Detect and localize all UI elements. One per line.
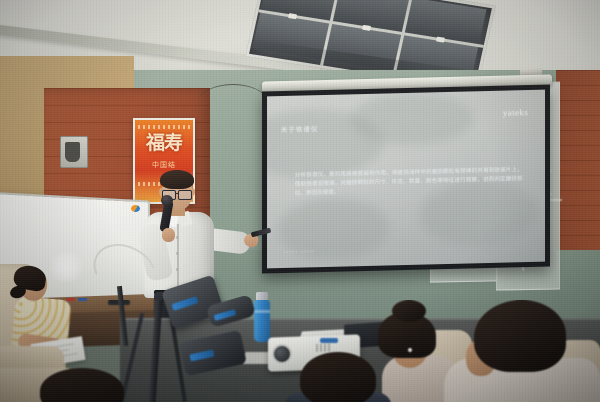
wall-control-plate-inset [65, 142, 80, 162]
attendee-hair [300, 352, 376, 402]
shirt-button [176, 268, 179, 271]
poster-glyph: 福寿 [135, 134, 193, 153]
attendee-hair [474, 300, 566, 372]
photograph-scene: 福寿 中国结 yateks 关于铁谱仪 分析铁谱仪，是利用高梯度磁场作用，将被测… [0, 0, 600, 402]
slide-title: 关于铁谱仪 [281, 123, 319, 134]
eyeglasses-lens-right [178, 190, 192, 200]
slide-brand-logo: yateks [503, 107, 528, 118]
projector-power-button[interactable] [320, 338, 338, 343]
shirt-button [176, 236, 179, 239]
projection-screen: yateks 关于铁谱仪 分析铁谱仪，是利用高梯度磁场作用，将被测油样中的磨损颗… [262, 84, 550, 273]
slide-body-text: 分析铁谱仪，是利用高梯度磁场作用，将被测油样中的磨损颗粒有预律的并离到铁谱片上，… [295, 166, 523, 199]
water-bottle-band [254, 310, 270, 313]
shirt-button [176, 252, 179, 255]
attendee-earring [408, 348, 412, 352]
projector-lens [272, 344, 292, 364]
presenter-hair [160, 170, 194, 189]
projection-screen-surface: yateks 关于铁谱仪 分析铁谱仪，是利用高梯度磁场作用，将被测油样中的磨损颗… [267, 90, 545, 269]
water-bottle[interactable] [254, 300, 270, 342]
slide-footer-text: yateks optical [284, 248, 315, 254]
attendee-hair-bun [392, 300, 426, 322]
presenter-hand-holding-mic [162, 228, 175, 242]
eyeglasses-bridge [175, 193, 179, 194]
presenter-shirt-placket [177, 224, 179, 294]
